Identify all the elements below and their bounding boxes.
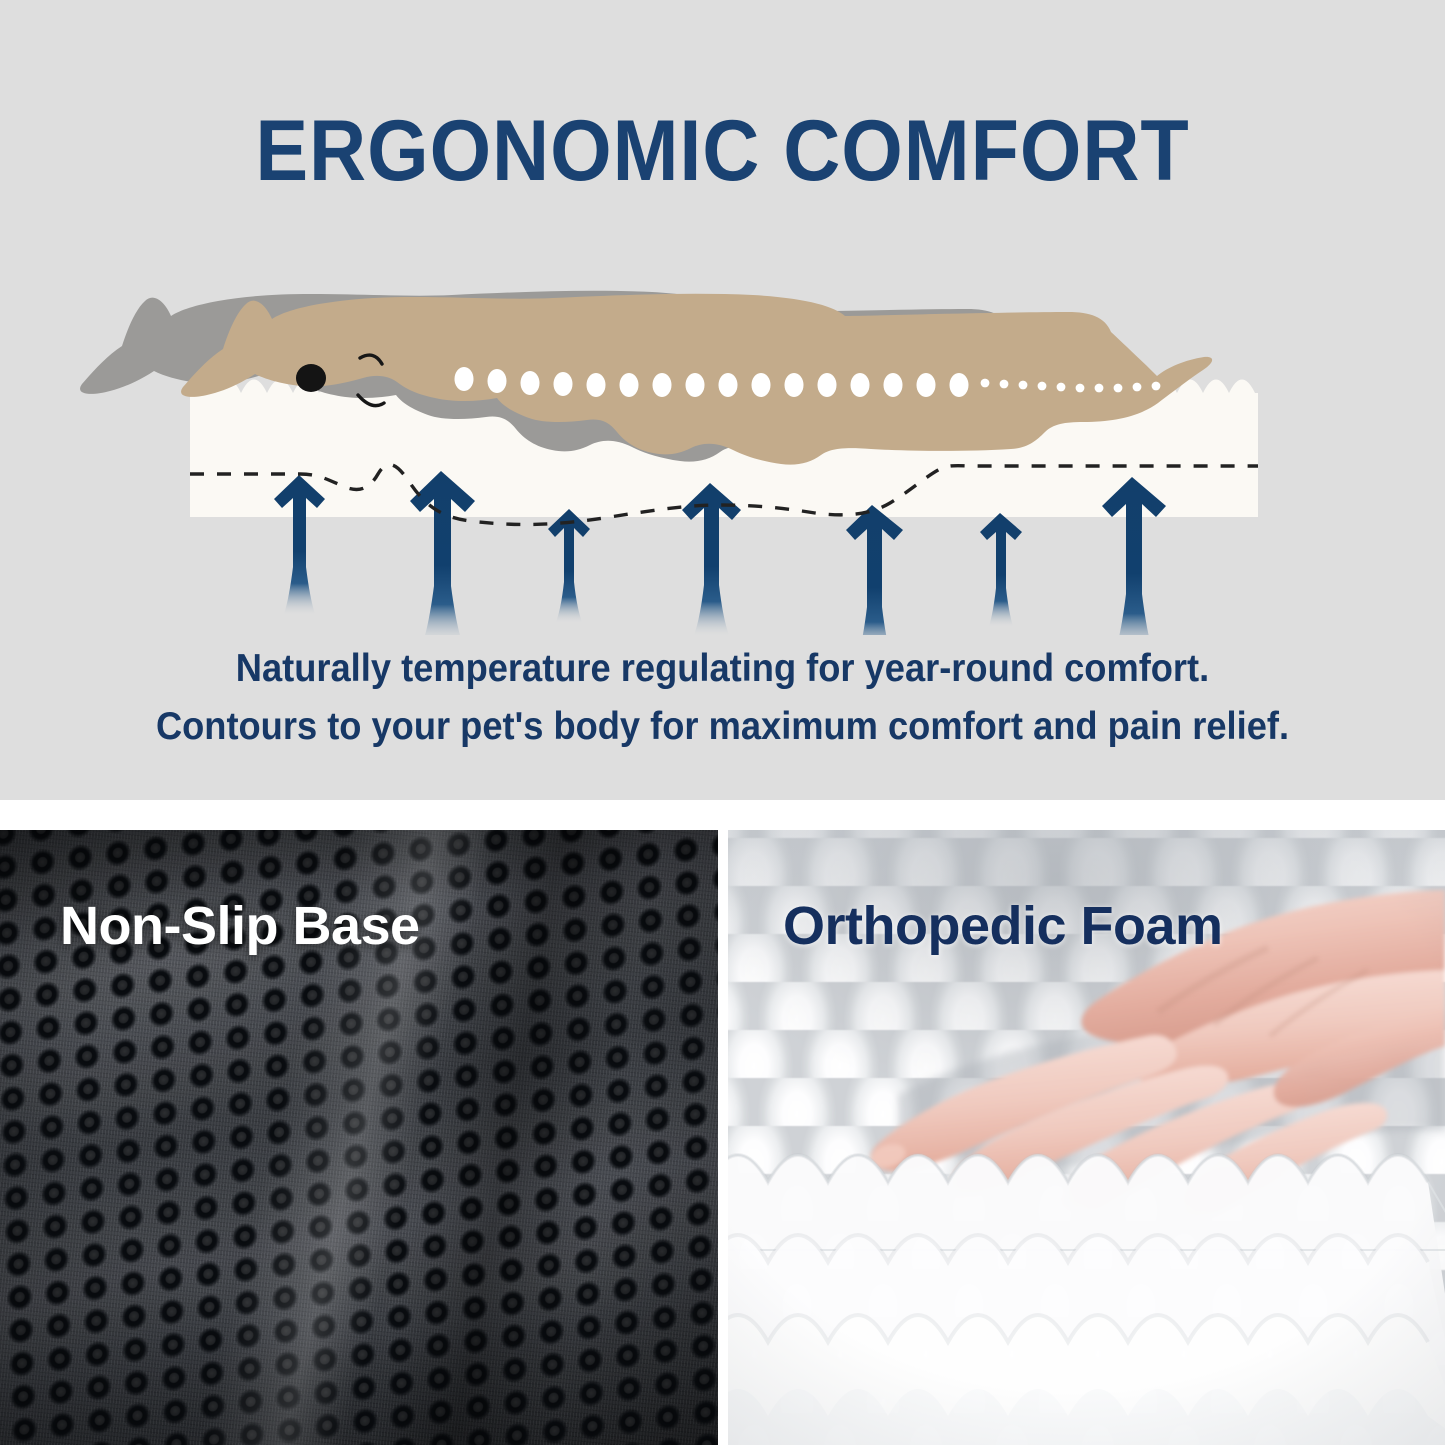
dog-nose <box>296 364 326 392</box>
page-title: ERGONOMIC COMFORT <box>58 108 1387 194</box>
pressure-arrow-7 <box>1102 477 1166 635</box>
hero-caption: Naturally temperature regulating for yea… <box>0 640 1445 755</box>
pressure-arrow-5 <box>846 505 903 635</box>
panel-label-orthopedic-foam: Orthopedic Foam <box>783 895 1223 957</box>
panel-orthopedic-foam: Orthopedic Foam <box>728 830 1445 1445</box>
caption-line-2: Contours to your pet's body for maximum … <box>51 698 1395 756</box>
caption-line-1: Naturally temperature regulating for yea… <box>51 640 1395 698</box>
ergonomic-comfort-hero: ERGONOMIC COMFORT <box>0 0 1445 800</box>
dog-on-foam-diagram <box>0 255 1445 635</box>
pressure-arrow-1 <box>274 475 325 614</box>
pressure-arrow-3 <box>548 509 590 622</box>
panel-non-slip-base: Non-Slip Base <box>0 830 718 1445</box>
ergonomic-illustration <box>0 255 1445 635</box>
panel-label-non-slip-base: Non-Slip Base <box>60 895 420 957</box>
pressure-arrow-6 <box>980 513 1022 626</box>
feature-panels: Non-Slip Base <box>0 800 1445 1445</box>
